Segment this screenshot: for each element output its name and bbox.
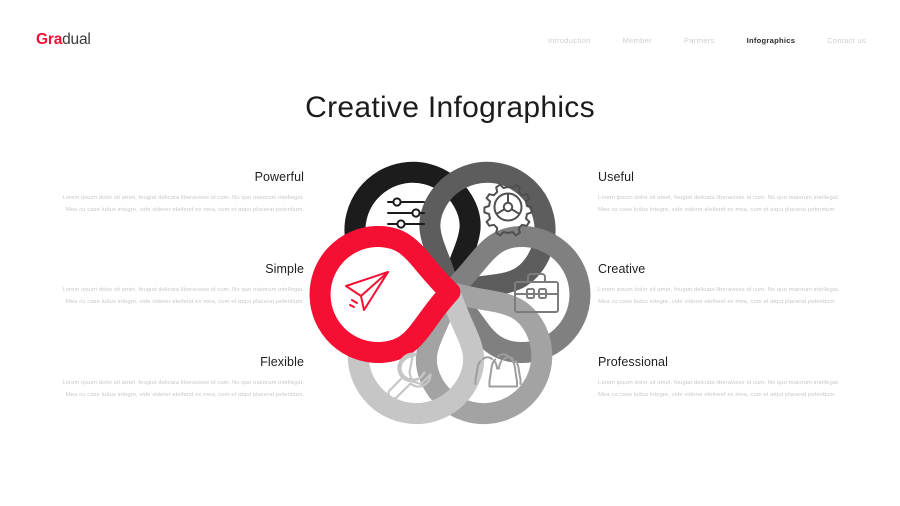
feature-text-creative: Lorem ipsum dolor sit amet, feugiat deli… xyxy=(598,285,846,308)
feature-title-flexible: Flexible xyxy=(56,355,304,369)
slide-canvas: Gradual Introduction Member Partners Inf… xyxy=(0,0,900,506)
feature-text-useful: Lorem ipsum dolor sit amet, feugiat deli… xyxy=(598,193,846,216)
feature-block-creative: Creative Lorem ipsum dolor sit amet, feu… xyxy=(598,262,846,308)
feature-title-professional: Professional xyxy=(598,355,846,369)
page-title: Creative Infographics xyxy=(0,91,900,125)
nav-item-contact-us[interactable]: Contact us xyxy=(827,36,866,45)
feature-text-simple: Lorem ipsum dolor sit amet, feugiat deli… xyxy=(56,285,304,308)
feature-block-powerful: Powerful Lorem ipsum dolor sit amet, feu… xyxy=(56,170,304,216)
feature-block-professional: Professional Lorem ipsum dolor sit amet,… xyxy=(598,355,846,401)
brand-logo-rest: dual xyxy=(62,31,91,48)
feature-block-simple: Simple Lorem ipsum dolor sit amet, feugi… xyxy=(56,262,304,308)
brand-logo[interactable]: Gradual xyxy=(36,31,91,49)
feature-text-flexible: Lorem ipsum dolor sit amet, feugiat deli… xyxy=(56,378,304,401)
nav-item-partners[interactable]: Partners xyxy=(684,36,715,45)
nav-item-member[interactable]: Member xyxy=(623,36,652,45)
sliders-icon xyxy=(388,198,424,227)
main-navigation: Introduction Member Partners Infographic… xyxy=(548,36,866,45)
nav-item-introduction[interactable]: Introduction xyxy=(548,36,591,45)
feature-block-useful: Useful Lorem ipsum dolor sit amet, feugi… xyxy=(598,170,846,216)
brand-logo-accent: Gra xyxy=(36,31,62,48)
feature-title-simple: Simple xyxy=(56,262,304,276)
petal-infographic-diagram xyxy=(300,140,600,440)
feature-block-flexible: Flexible Lorem ipsum dolor sit amet, feu… xyxy=(56,355,304,401)
nav-item-infographics[interactable]: Infographics xyxy=(747,36,796,45)
feature-text-powerful: Lorem ipsum dolor sit amet, feugiat deli… xyxy=(56,193,304,216)
feature-title-creative: Creative xyxy=(598,262,846,276)
feature-title-useful: Useful xyxy=(598,170,846,184)
feature-title-powerful: Powerful xyxy=(56,170,304,184)
feature-text-professional: Lorem ipsum dolor sit amet, feugiat deli… xyxy=(598,378,846,401)
